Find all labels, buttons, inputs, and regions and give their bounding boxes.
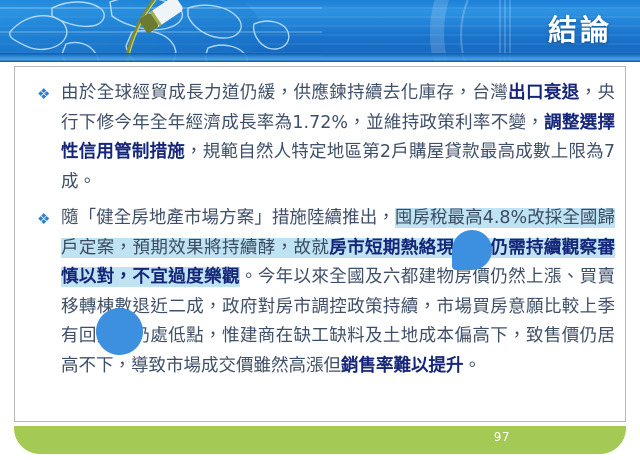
slide-footer-bar: [14, 426, 626, 454]
slide-content-box: ❖由於全球經貿成長力道仍緩，供應鍊持續去化庫存，台灣出口衰退，央行下修今年全年經…: [14, 66, 626, 422]
page-number: 97: [494, 430, 510, 444]
presentation-slide: 結論 ❖由於全球經貿成長力道仍緩，供應鍊持續去化庫存，台灣出口衰退，央行下修今年…: [0, 0, 640, 460]
para2-run-6: 退近二成，政府對房市調控政策持續，市場買房意願比較上季有回升但仍處低點，惟建商在…: [61, 297, 615, 376]
bullet-paragraph-1: ❖由於全球經貿成長力道仍緩，供應鍊持續去化庫存，台灣出口衰退，央行下修今年全年經…: [39, 79, 615, 197]
blue-cursor-blob-lower[interactable]: [96, 308, 143, 355]
para2-run-1: 隨「健全房地產市場方案」措施陸續推出，: [61, 208, 395, 228]
para2-run-7-sales-rate: 銷售率難以提升: [341, 356, 464, 376]
blue-cursor-blob-upper[interactable]: [452, 230, 492, 270]
banner-bottom-edge: [0, 53, 640, 62]
para1-run-2-export-decline: 出口衰退: [508, 83, 580, 103]
slide-header-banner: 結論: [0, 0, 640, 62]
para1-run-1: 由於全球經貿成長力道仍緩，供應鍊持續去化庫存，台灣: [61, 83, 508, 103]
slide-title: 結論: [548, 8, 612, 52]
bullet-diamond-icon: ❖: [37, 80, 50, 110]
bullet-paragraph-2: ❖隨「健全房地產市場方案」措施陸續推出，囤房稅最高4.8%改採全國歸戶定案，預期…: [39, 204, 615, 381]
bullet-diamond-icon-2: ❖: [37, 205, 50, 235]
para2-run-3: 酵，故就: [258, 238, 330, 258]
para2-run-8: 。: [464, 356, 482, 376]
